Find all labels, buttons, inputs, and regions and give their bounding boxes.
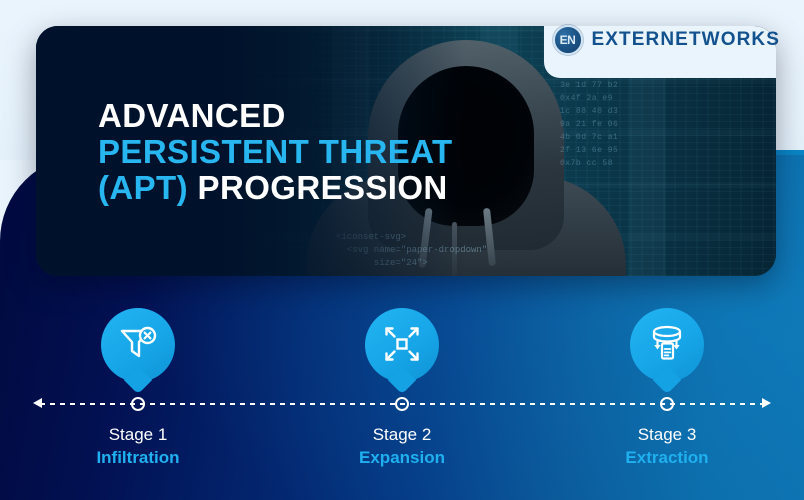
stage-2-label: Expansion xyxy=(302,448,502,468)
stage-3-pin xyxy=(630,308,704,396)
funnel-x-icon xyxy=(118,324,158,364)
stage-3-number: Stage 3 xyxy=(567,425,767,445)
stage-item-3[interactable]: Stage 3 Extraction xyxy=(567,300,767,396)
stage-2-node xyxy=(395,397,409,411)
stage-2-pin xyxy=(365,308,439,396)
brand-logo[interactable]: EN EXTERNETWORKS xyxy=(553,26,780,54)
expand-arrows-icon xyxy=(382,324,422,364)
stage-3-label: Extraction xyxy=(567,448,767,468)
en-logo-icon: EN xyxy=(553,25,583,55)
title-apt-highlight: (APT) xyxy=(98,169,188,206)
timeline-right-arrow-icon xyxy=(762,398,771,408)
infographic-canvas: 01 a4 9f 0c 3e 1d 77 b2 0x4f 2a e9 1c 88… xyxy=(0,0,804,500)
title-line-3: (APT) PROGRESSION xyxy=(98,170,453,206)
hero-card: 01 a4 9f 0c 3e 1d 77 b2 0x4f 2a e9 1c 88… xyxy=(36,26,776,276)
title-line-1: ADVANCED xyxy=(98,98,453,134)
stage-3-node xyxy=(660,397,674,411)
brand-name: EXTERNETWORKS xyxy=(592,29,780,51)
stage-2-number: Stage 2 xyxy=(302,425,502,445)
database-download-document-icon xyxy=(647,324,687,364)
code-overlay-text: 01 a4 9f 0c 3e 1d 77 b2 0x4f 2a e9 1c 88… xyxy=(560,66,760,170)
page-title: ADVANCED PERSISTENT THREAT (APT) PROGRES… xyxy=(98,98,453,206)
title-line-2: PERSISTENT THREAT xyxy=(98,134,453,170)
stage-timeline: Stage 1 Infiltration Stage 2 xyxy=(0,300,804,500)
stage-item-1[interactable]: Stage 1 Infiltration xyxy=(38,300,238,396)
title-progression: PROGRESSION xyxy=(188,169,448,206)
stage-item-2[interactable]: Stage 2 Expansion xyxy=(302,300,502,396)
stage-1-label: Infiltration xyxy=(38,448,238,468)
stage-1-node xyxy=(131,397,145,411)
stage-1-number: Stage 1 xyxy=(38,425,238,445)
stage-1-pin xyxy=(101,308,175,396)
